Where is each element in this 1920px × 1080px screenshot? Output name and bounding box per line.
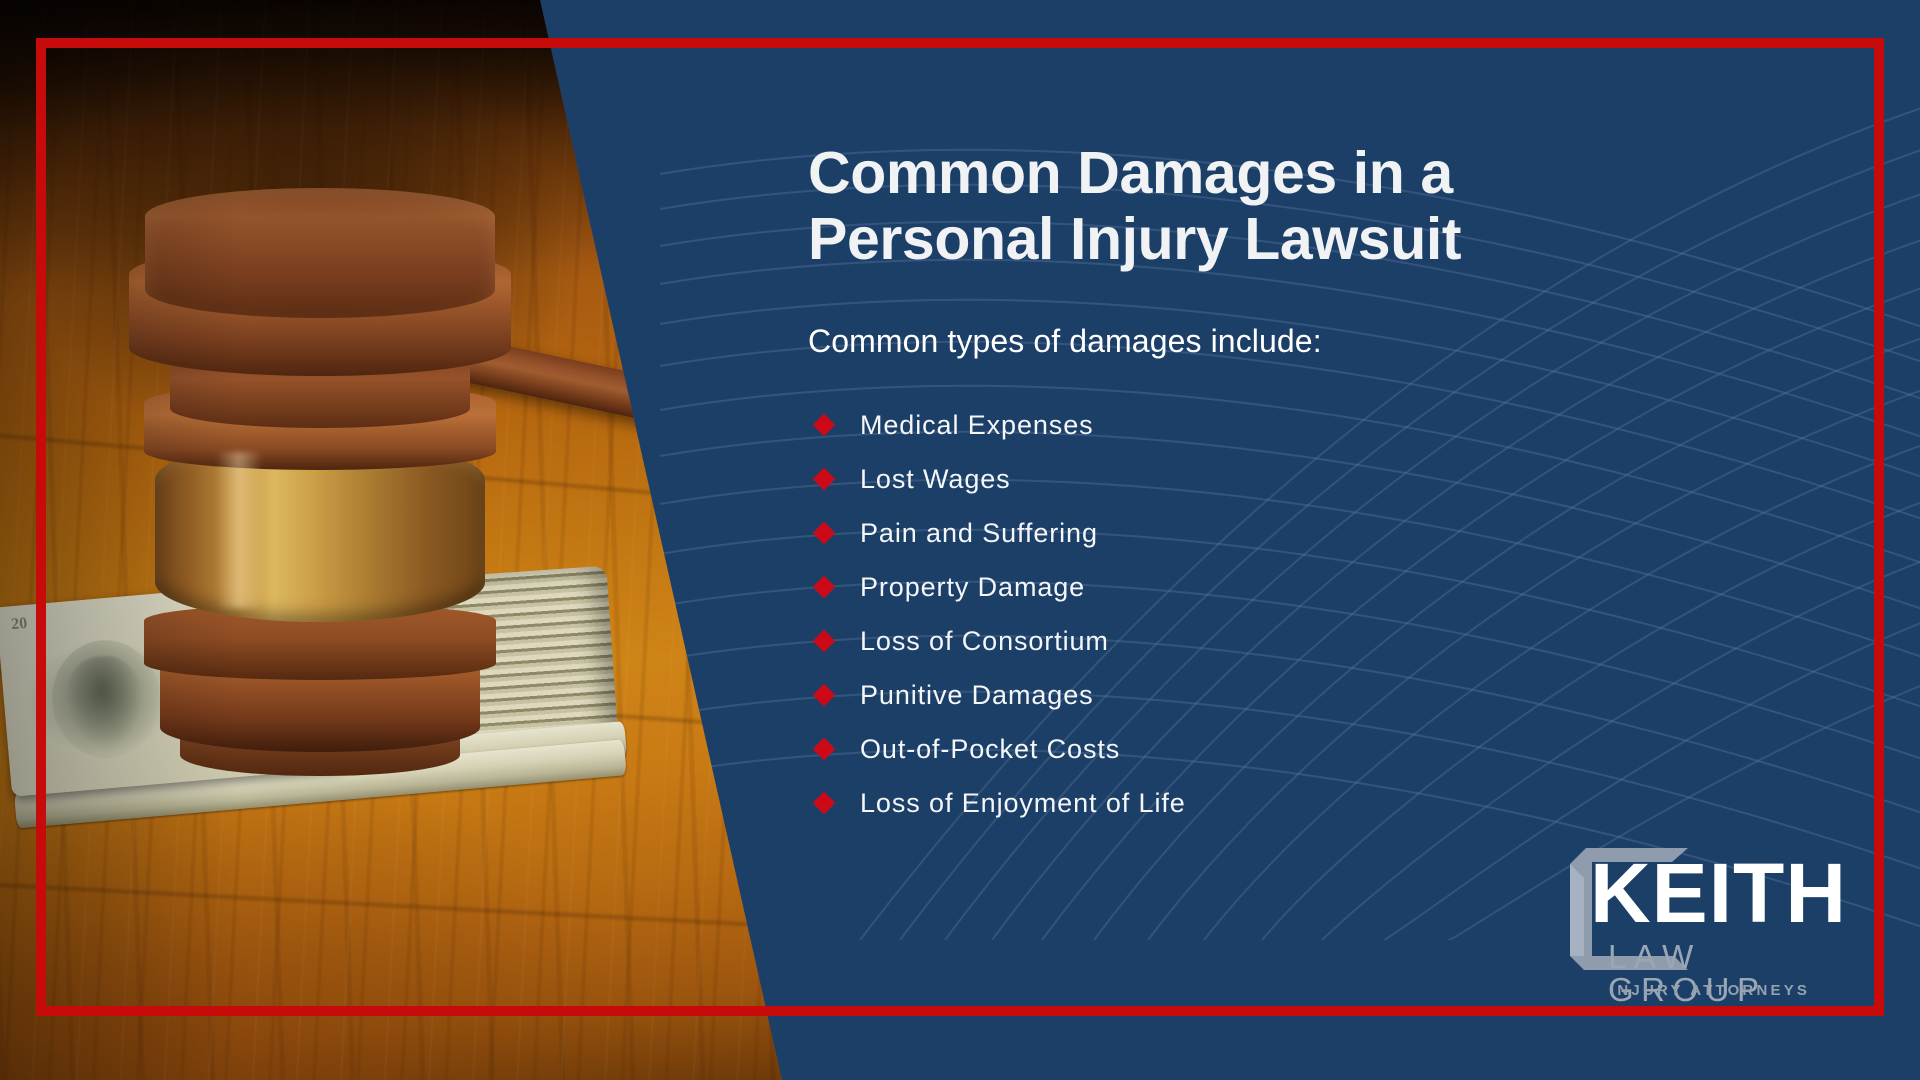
diamond-bullet-icon: [813, 468, 836, 491]
logo-name: KEITH: [1590, 851, 1847, 935]
list-item-label: Lost Wages: [860, 464, 1011, 495]
diamond-bullet-icon: [813, 792, 836, 815]
diamond-bullet-icon: [813, 630, 836, 653]
list-item: Pain and Suffering: [816, 506, 1636, 560]
diamond-bullet-icon: [813, 576, 836, 599]
damages-list: Medical Expenses Lost Wages Pain and Suf…: [816, 398, 1636, 830]
page-title: Common Damages in a Personal Injury Laws…: [808, 140, 1628, 272]
list-item: Medical Expenses: [816, 398, 1636, 452]
subtitle: Common types of damages include:: [808, 323, 1322, 360]
slide-canvas: 20 20 Common Damages in a Per: [0, 0, 1920, 1080]
diamond-bullet-icon: [813, 738, 836, 761]
list-item: Loss of Consortium: [816, 614, 1636, 668]
list-item-label: Pain and Suffering: [860, 518, 1098, 549]
list-item-label: Property Damage: [860, 572, 1085, 603]
list-item: Punitive Damages: [816, 668, 1636, 722]
list-item-label: Punitive Damages: [860, 680, 1094, 711]
list-item-label: Medical Expenses: [860, 410, 1094, 441]
list-item: Lost Wages: [816, 452, 1636, 506]
diamond-bullet-icon: [813, 414, 836, 437]
logo-subtagline: INJURY ATTORNEYS: [1610, 983, 1810, 998]
diamond-bullet-icon: [813, 684, 836, 707]
diamond-bullet-icon: [813, 522, 836, 545]
list-item: Loss of Enjoyment of Life: [816, 776, 1636, 830]
list-item-label: Loss of Enjoyment of Life: [860, 788, 1186, 819]
list-item: Property Damage: [816, 560, 1636, 614]
list-item-label: Loss of Consortium: [860, 626, 1109, 657]
list-item-label: Out-of-Pocket Costs: [860, 734, 1120, 765]
keith-law-group-logo: KEITH LAW GROUP INJURY ATTORNEYS: [1570, 845, 1870, 1010]
list-item: Out-of-Pocket Costs: [816, 722, 1636, 776]
